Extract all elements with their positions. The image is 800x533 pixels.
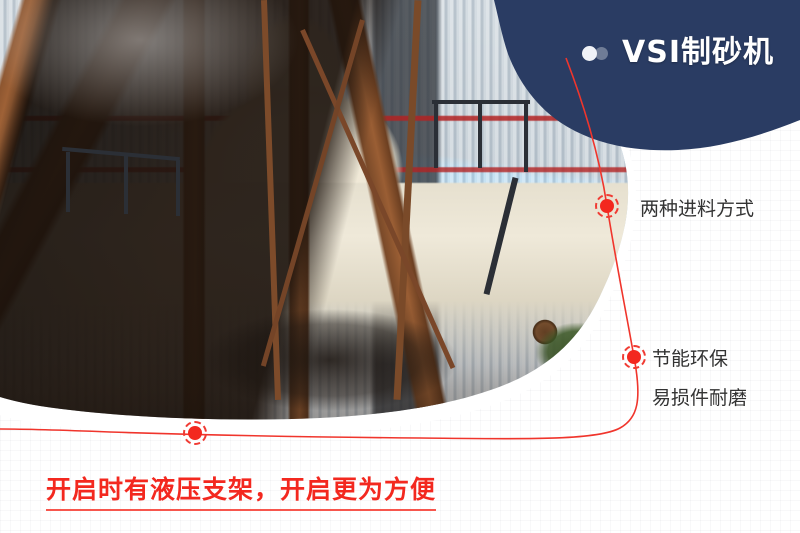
- marker-feature-2: [622, 345, 646, 369]
- marker-core: [627, 350, 641, 364]
- marker-core: [188, 426, 202, 440]
- page-title: VSI制砂机: [622, 38, 774, 68]
- bottom-caption: 开启时有液压支架，开启更为方便: [46, 470, 436, 511]
- marker-caption: [183, 421, 207, 445]
- marker-feature-1: [595, 194, 619, 218]
- feature-label-1: 两种进料方式: [640, 195, 754, 224]
- marker-core: [600, 199, 614, 213]
- feature-2-line-2: 易损件耐磨: [652, 384, 747, 413]
- banner-stage: VSI制砂机 两种进料方式 节能环保 易损件耐磨 开启时有液压支架，开启更为方便: [0, 0, 800, 533]
- handrail-post-r2: [478, 100, 482, 168]
- handrail-post-right: [176, 160, 180, 216]
- handrail-post-r1: [434, 100, 438, 168]
- handrail-post-mid: [124, 156, 128, 214]
- banner-title: VSI制砂机: [582, 38, 774, 68]
- feature-1-line-1: 两种进料方式: [640, 195, 754, 224]
- feature-label-2: 节能环保 易损件耐磨: [652, 345, 747, 414]
- handrail-post-left: [66, 152, 70, 212]
- handrail-post-r3: [524, 100, 528, 172]
- bullet-front-circle: [582, 46, 597, 61]
- double-circle-bullet-icon: [582, 46, 608, 61]
- feature-2-line-1: 节能环保: [652, 345, 747, 374]
